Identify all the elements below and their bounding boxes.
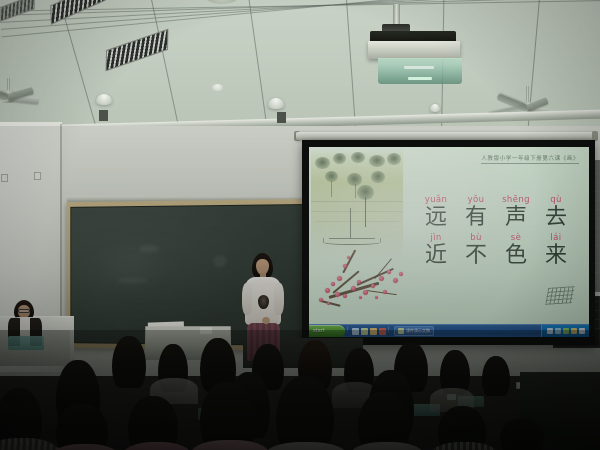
slide-header-text: 人教版小学一年级下册第六课《画》 — [481, 154, 579, 164]
hanzi-text: 去 — [537, 205, 575, 230]
char-cell: lái 来 — [537, 233, 575, 269]
audience-seating — [0, 330, 600, 450]
char-cell: yuǎn 远 — [417, 195, 455, 231]
classroom-scene: 人教版小学一年级下册第六课《画》 yuǎn 远 yǒu 有 shēng 声 — [0, 0, 600, 450]
light-switch[interactable] — [34, 172, 41, 180]
smoke-detector — [212, 84, 223, 91]
pinyin-text: jìn — [417, 233, 455, 243]
projector-light-strip — [408, 77, 432, 80]
pinyin-text: yǒu — [457, 195, 495, 205]
hanzi-text: 色 — [497, 243, 535, 268]
ceiling-downlight — [430, 104, 440, 112]
ceiling-downlight — [268, 98, 284, 109]
ceiling-light-panel — [106, 29, 169, 72]
pinyin-text: bù — [457, 233, 495, 243]
hanzi-text: 声 — [497, 205, 535, 230]
projector-lens-housing — [378, 58, 462, 84]
pinyin-text: lái — [537, 233, 575, 243]
char-cell: jìn 近 — [417, 233, 455, 269]
teacher-sleeve-right — [274, 283, 284, 315]
hanzi-text: 不 — [457, 243, 495, 268]
light-switch[interactable] — [1, 174, 8, 182]
hanzi-text: 远 — [417, 205, 455, 230]
pinyin-text: yuǎn — [417, 195, 455, 205]
char-cell: bù 不 — [457, 233, 495, 269]
tianzige-writing-grid-icon — [545, 286, 574, 305]
plum-blossom-branch — [313, 234, 409, 310]
ceiling-round-fixture — [205, 0, 239, 4]
char-cell: sè 色 — [497, 233, 535, 269]
screen-surface[interactable]: 人教版小学一年级下册第六课《画》 yuǎn 远 yǒu 有 shēng 声 — [309, 147, 589, 337]
presentation-slide[interactable]: 人教版小学一年级下册第六课《画》 yuǎn 远 yǒu 有 shēng 声 — [309, 147, 589, 324]
pinyin-text: shēng — [497, 195, 535, 205]
screen-roller-casing — [296, 132, 596, 140]
track-clip — [277, 112, 286, 123]
pinyin-text: sè — [497, 233, 535, 243]
hanzi-text: 有 — [457, 205, 495, 230]
hanzi-text: 来 — [537, 243, 575, 268]
teacher-sleeve-left — [242, 283, 252, 315]
teacher-hand — [262, 317, 270, 324]
pinyin-text: qù — [537, 195, 575, 205]
ceiling-downlight — [96, 94, 112, 105]
projector-body — [368, 41, 460, 59]
projection-screen[interactable]: 人教版小学一年级下册第六课《画》 yuǎn 远 yǒu 有 shēng 声 — [302, 140, 595, 345]
glasses-icon — [18, 309, 30, 313]
track-clip — [99, 110, 108, 121]
hanzi-text: 近 — [417, 243, 455, 268]
char-cell: yǒu 有 — [457, 195, 495, 231]
char-cell: qù 去 — [537, 195, 575, 231]
character-grid: yuǎn 远 yǒu 有 shēng 声 qù 去 — [417, 195, 575, 269]
projector-label — [404, 66, 434, 69]
char-cell: shēng 声 — [497, 195, 535, 231]
